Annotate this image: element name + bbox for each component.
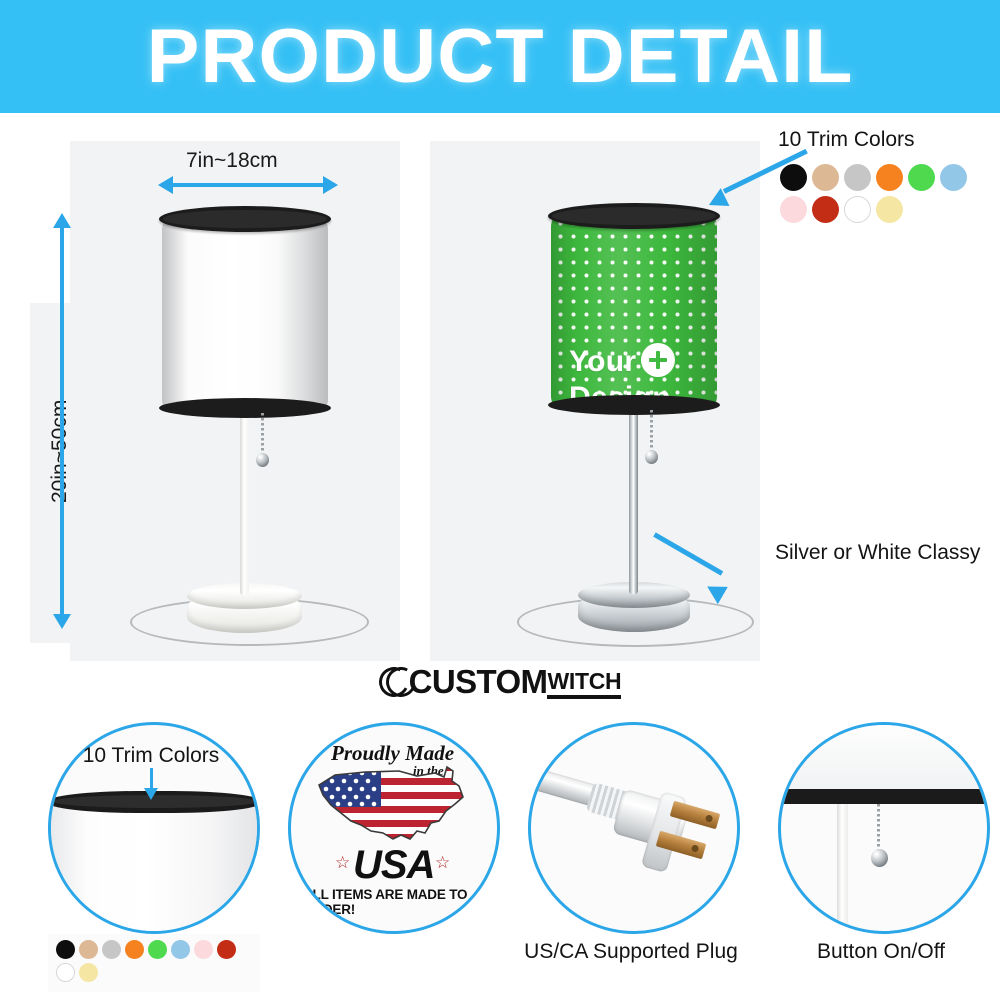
logo-main-text: CUSTOM [409, 663, 548, 700]
brand-logo: CUSTOMWITCH [0, 663, 1000, 701]
height-arrow-line [60, 228, 64, 614]
shade-trim-inner [552, 207, 716, 225]
trim-swatch-yellow[interactable] [876, 196, 903, 223]
pull-chain[interactable] [261, 413, 264, 455]
shade-fragment [49, 801, 260, 934]
trim-arrow-line [150, 768, 153, 790]
trim-swatch-gray[interactable] [844, 164, 871, 191]
shade-gloss [162, 216, 328, 413]
lamp-stem-fragment [837, 804, 848, 931]
trim-swatch-yellow[interactable] [79, 963, 98, 982]
trim-swatch-light-blue[interactable] [171, 940, 190, 959]
trim-colors-arrow [700, 163, 820, 223]
shade-trim-inner [163, 210, 327, 228]
width-arrow-head-right [323, 176, 338, 194]
shade-trim-top [548, 203, 720, 229]
feature-label: US/CA Supported Plug [503, 940, 759, 964]
page-title: PRODUCT DETAIL [0, 14, 1000, 100]
trim-swatch-white[interactable] [844, 196, 871, 223]
shade-surface [162, 216, 328, 413]
shade-trim-bottom [159, 398, 331, 418]
feature-inner-label: 10 Trim Colors [48, 744, 254, 768]
trim-swatch-white[interactable] [56, 963, 75, 982]
trim-arrow-head [144, 788, 158, 800]
lamp-shade-green: Your Design [551, 203, 717, 415]
feature-made-in-usa: Proudly Made in the [288, 722, 508, 932]
trim-swatch-light-blue[interactable] [940, 164, 967, 191]
trim-swatch-pink[interactable] [194, 940, 213, 959]
usa-badge-line4: ALL ITEMS ARE MADE TO ORDER! [303, 887, 497, 917]
pull-chain-ball[interactable] [871, 849, 888, 867]
shade-gloss [551, 213, 717, 410]
shade-trim-bottom [548, 395, 720, 415]
shade-surface: Your Design [551, 213, 717, 410]
trim-swatch-black[interactable] [56, 940, 75, 959]
feature-label: Button On/Off [770, 940, 992, 964]
logo-sub-text: WITCH [547, 668, 621, 699]
trim-swatch-red[interactable] [217, 940, 236, 959]
pull-chain-ball[interactable] [645, 450, 658, 464]
trim-swatch-green[interactable] [908, 164, 935, 191]
lamp-shade-white [162, 206, 328, 418]
trim-swatch-gray[interactable] [102, 940, 121, 959]
trim-swatch-orange[interactable] [876, 164, 903, 191]
pull-chain[interactable] [650, 410, 653, 452]
usa-star-right: ☆ [435, 853, 450, 873]
width-arrow-head-left [158, 176, 173, 194]
trim-colors-callout-label: 10 Trim Colors [778, 128, 915, 152]
height-arrow-head-top [53, 213, 71, 228]
product-stage: 7in~18cm 20in~50cm [0, 113, 1000, 658]
trim-swatch-tan[interactable] [79, 940, 98, 959]
double-c-icon [379, 665, 413, 699]
trim-swatch-orange[interactable] [125, 940, 144, 959]
pull-chain[interactable] [877, 804, 880, 852]
usa-flag-map-icon [313, 759, 478, 855]
shade-fragment [778, 722, 990, 793]
lamp-stem-white [240, 413, 249, 595]
width-arrow-line [173, 183, 323, 187]
shade-trim-top [159, 206, 331, 232]
feature-circle [778, 722, 990, 934]
trim-swatch-green[interactable] [148, 940, 167, 959]
height-arrow-head-bottom [53, 614, 71, 629]
shade-trim-fragment [778, 789, 990, 804]
lamp-stem-silver [629, 410, 638, 594]
feature-plug: US/CA Supported Plug [528, 722, 768, 990]
usa-badge-line3: USA [353, 843, 434, 888]
feature-circle [528, 722, 740, 934]
usa-star-left: ☆ [335, 853, 350, 873]
feature-trim-colors: 10 Trim Colors [40, 722, 270, 992]
trim-color-swatches-bottom [56, 940, 256, 982]
base-finish-arrow [700, 553, 810, 613]
pull-chain-ball[interactable] [256, 453, 269, 467]
width-dimension-label: 7in~18cm [186, 149, 278, 173]
feature-circle: Proudly Made in the [288, 722, 500, 934]
feature-switch: Button On/Off [778, 722, 998, 990]
